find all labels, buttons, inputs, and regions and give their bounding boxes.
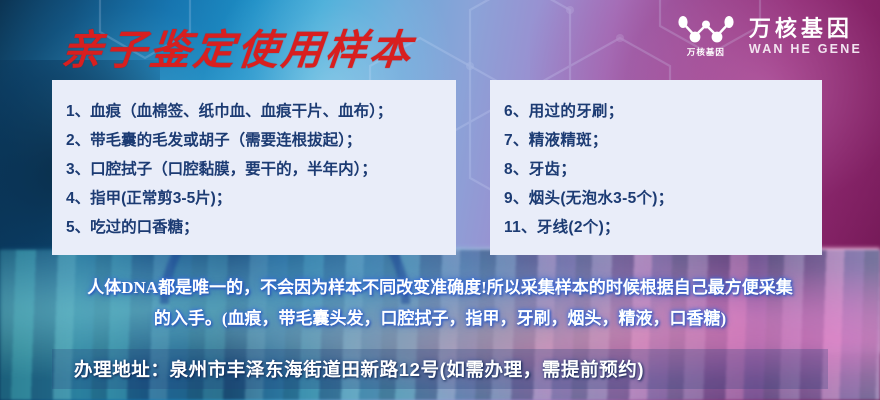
page-title: 亲子鉴定使用样本 [59,16,417,76]
list-item: 11、牙线(2个)； [504,213,808,242]
list-item: 6、用过的牙刷； [504,97,808,126]
list-item: 3、口腔拭子（口腔黏膜，要干的，半年内）； [66,155,442,184]
brand-name-en: WAN HE GENE [749,43,862,56]
sample-list-right: 6、用过的牙刷； 7、精液精斑； 8、牙齿； 9、烟头(无泡水3-5个)； 11… [504,97,808,242]
list-item: 2、带毛囊的毛发或胡子（需要连根拔起）； [66,126,442,155]
address-bar: 办理地址：泉州市丰泽东海街道田新路12号(如需办理，需提前预约) [52,349,828,389]
note-line-1: 人体DNA都是唯一的，不会因为样本不同改变准确度!所以采集样本的时候根据自己最方… [52,272,828,303]
list-item: 5、吃过的口香糖； [66,213,442,242]
sample-list-left: 1、血痕（血棉签、纸巾血、血痕干片、血布）； 2、带毛囊的毛发或胡子（需要连根拔… [66,97,442,242]
list-item: 8、牙齿； [504,155,808,184]
list-item: 4、指甲(正常剪3-5片)； [66,184,442,213]
note-line-2: 的入手。(血痕，带毛囊头发，口腔拭子，指甲，牙刷，烟头，精液，口香糖) [52,303,828,334]
brand-text: 万核基因 WAN HE GENE [749,18,862,56]
brand-name-cn: 万核基因 [749,18,862,40]
brand-mark-label: 万核基因 [687,48,725,57]
address-text: 办理地址：泉州市丰泽东海街道田新路12号(如需办理，需提前预约) [74,356,644,382]
sample-panel-right: 6、用过的牙刷； 7、精液精斑； 8、牙齿； 9、烟头(无泡水3-5个)； 11… [490,80,822,255]
list-item: 9、烟头(无泡水3-5个)； [504,184,808,213]
list-item: 7、精液精斑； [504,126,808,155]
note-paragraph: 人体DNA都是唯一的，不会因为样本不同改变准确度!所以采集样本的时候根据自己最方… [0,272,880,334]
promo-banner: 亲子鉴定使用样本 [0,0,880,400]
brand-logo: 万核基因 万核基因 WAN HE GENE [675,16,862,57]
banner-header: 亲子鉴定使用样本 [0,0,880,82]
molecule-icon [675,16,737,46]
brand-mark: 万核基因 [675,16,737,57]
sample-panel-left: 1、血痕（血棉签、纸巾血、血痕干片、血布）； 2、带毛囊的毛发或胡子（需要连根拔… [52,80,456,255]
list-item: 1、血痕（血棉签、纸巾血、血痕干片、血布）； [66,97,442,126]
